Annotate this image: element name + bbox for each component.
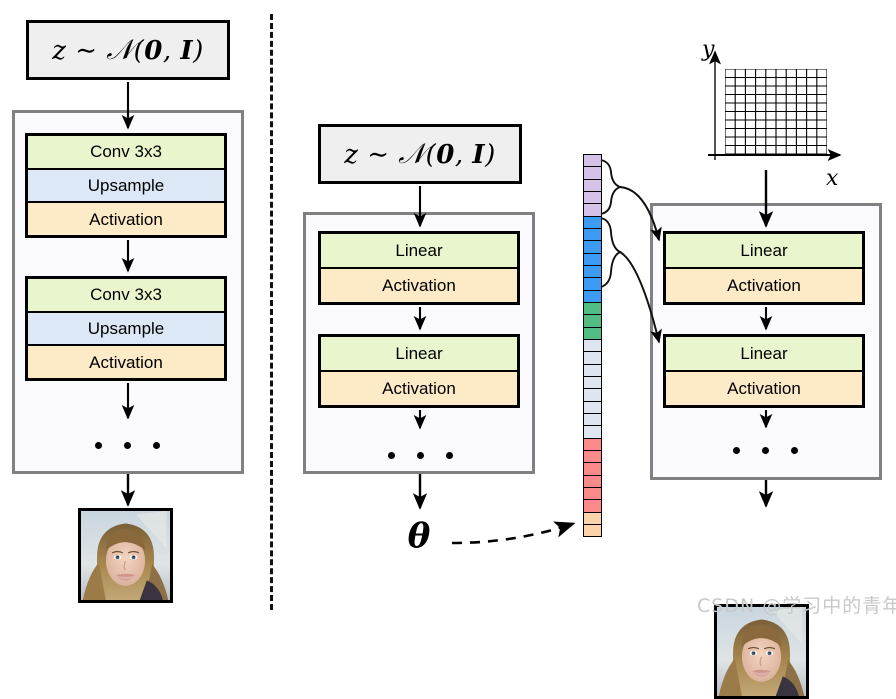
- parameter-cell: [584, 451, 601, 463]
- middle-latent-formula: z ∼ 𝒩(0, I): [344, 137, 495, 171]
- parameter-cell: [584, 266, 601, 278]
- layer-activation: Activation: [321, 372, 517, 405]
- diagram-canvas: z ∼ 𝒩(0, I) Conv 3x3 Upsample Activation…: [0, 0, 896, 621]
- brace-top: [601, 160, 620, 214]
- parameter-cell: [584, 352, 601, 364]
- theta-to-strip-dashed-arrow: [452, 524, 572, 543]
- coordinate-grid: [725, 69, 827, 154]
- csdn-watermark: CSDN @学习中的青年: [697, 591, 887, 615]
- left-block-1: Conv 3x3 Upsample Activation: [25, 133, 227, 238]
- right-ellipsis: [726, 443, 804, 457]
- parameter-cell: [584, 192, 601, 204]
- layer-activation: Activation: [666, 372, 862, 405]
- layer-activation: Activation: [321, 269, 517, 302]
- layer-conv-3x3: Conv 3x3: [28, 136, 224, 170]
- layer-linear: Linear: [666, 234, 862, 269]
- middle-block-2: Linear Activation: [318, 334, 520, 408]
- brace-bottom: [601, 218, 620, 287]
- left-block-2: Conv 3x3 Upsample Activation: [25, 276, 227, 381]
- right-block-2: Linear Activation: [663, 334, 865, 408]
- theta-symbol: θ: [398, 516, 440, 556]
- parameter-cell: [584, 525, 601, 536]
- layer-activation: Activation: [28, 203, 224, 235]
- parameter-cell: [584, 488, 601, 500]
- y-axis-label: y: [702, 37, 718, 63]
- parameter-cell: [584, 439, 601, 451]
- layer-linear: Linear: [666, 337, 862, 372]
- parameter-cell: [584, 389, 601, 401]
- middle-latent-box: z ∼ 𝒩(0, I): [318, 124, 522, 184]
- left-latent-formula: z ∼ 𝒩(0, I): [52, 33, 203, 67]
- x-axis-label: x: [826, 166, 842, 192]
- right-output-photo: [714, 604, 809, 699]
- layer-conv-3x3: Conv 3x3: [28, 279, 224, 313]
- parameter-cell: [584, 377, 601, 389]
- parameter-cell: [584, 315, 601, 327]
- parameter-cell: [584, 513, 601, 525]
- parameter-cell: [584, 476, 601, 488]
- parameter-cell: [584, 167, 601, 179]
- parameter-cell: [584, 155, 601, 167]
- parameter-cell: [584, 402, 601, 414]
- left-output-photo: [78, 508, 173, 603]
- parameter-cell: [584, 463, 601, 475]
- parameter-cell: [584, 278, 601, 290]
- middle-ellipsis: [381, 448, 459, 462]
- layer-upsample: Upsample: [28, 313, 224, 347]
- parameter-cell: [584, 340, 601, 352]
- parameter-cell: [584, 217, 601, 229]
- parameter-vector-strip: [583, 154, 602, 537]
- layer-activation: Activation: [28, 346, 224, 378]
- layer-activation: Activation: [666, 269, 862, 302]
- parameter-cell: [584, 328, 601, 340]
- left-latent-box: z ∼ 𝒩(0, I): [26, 20, 230, 80]
- parameter-cell: [584, 414, 601, 426]
- parameter-cell: [584, 229, 601, 241]
- middle-block-1: Linear Activation: [318, 231, 520, 305]
- section-divider: [270, 14, 273, 610]
- layer-upsample: Upsample: [28, 170, 224, 204]
- parameter-cell: [584, 180, 601, 192]
- parameter-cell: [584, 500, 601, 512]
- parameter-cell: [584, 254, 601, 266]
- parameter-cell: [584, 241, 601, 253]
- right-block-1: Linear Activation: [663, 231, 865, 305]
- left-ellipsis: [88, 438, 166, 452]
- grid-svg: [725, 69, 827, 154]
- parameter-cell: [584, 365, 601, 377]
- parameter-cell: [584, 426, 601, 438]
- parameter-cell: [584, 303, 601, 315]
- layer-linear: Linear: [321, 234, 517, 269]
- parameter-cell: [584, 291, 601, 303]
- parameter-cell: [584, 204, 601, 216]
- layer-linear: Linear: [321, 337, 517, 372]
